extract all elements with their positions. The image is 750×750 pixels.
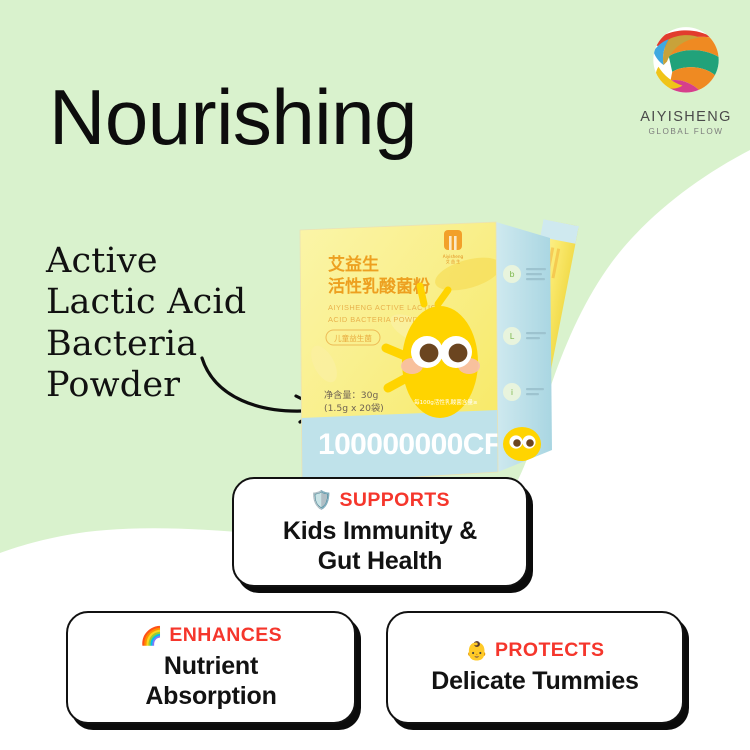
product-image: 艾益生 活性乳酸菌粉 100亿 b bbox=[288, 212, 618, 512]
benefit-body-line-2: Absorption bbox=[145, 681, 276, 711]
box-cfu-value: 100000000CFU bbox=[318, 428, 523, 461]
benefit-card-supports[interactable]: 🛡️ SUPPORTS Kids Immunity & Gut Health bbox=[232, 477, 528, 587]
side-mascot bbox=[503, 427, 541, 461]
box-side-panel: b L i bbox=[496, 222, 552, 472]
svg-text:b: b bbox=[509, 270, 514, 279]
benefit-body: Delicate Tummies bbox=[431, 666, 639, 696]
box-front-panel: Aiyisheng 艾 益 生 艾益生 活性乳酸菌粉 AIYISHENG ACT… bbox=[300, 222, 523, 484]
benefit-card-protects[interactable]: 👶 PROTECTS Delicate Tummies bbox=[386, 611, 684, 724]
benefit-kicker-text: PROTECTS bbox=[495, 639, 604, 662]
rainbow-icon: 🌈 bbox=[140, 627, 162, 645]
benefit-kicker-text: ENHANCES bbox=[169, 624, 282, 647]
box-badge-cn: 儿童益生菌 bbox=[334, 333, 372, 343]
benefit-body-line-1: Nutrient bbox=[145, 651, 276, 681]
svg-text:i: i bbox=[511, 388, 513, 397]
box-title-cn-2: 活性乳酸菌粉 bbox=[328, 276, 430, 297]
box-title-en-1: AIYISHENG ACTIVE LACTIC bbox=[328, 303, 437, 312]
benefit-body-line-1: Kids Immunity & bbox=[283, 516, 477, 546]
benefit-body-line-2: Gut Health bbox=[283, 546, 477, 576]
brand-tagline: GLOBAL FLOW bbox=[632, 127, 740, 136]
svg-text:艾 益 生: 艾 益 生 bbox=[446, 258, 461, 264]
box-side-note: 每100g活性乳酸菌含量≥ bbox=[414, 398, 478, 406]
benefit-kicker: 🛡️ SUPPORTS bbox=[310, 489, 450, 512]
product-promo-poster: AIYISHENG GLOBAL FLOW Nourishing Active … bbox=[0, 0, 750, 750]
benefit-kicker-text: SUPPORTS bbox=[339, 489, 449, 512]
product-box-illustration: 艾益生 活性乳酸菌粉 100亿 b bbox=[288, 212, 618, 512]
benefit-kicker: 👶 PROTECTS bbox=[466, 639, 605, 662]
product-name-line-2: Lactic Acid bbox=[46, 282, 246, 323]
benefit-kicker: 🌈 ENHANCES bbox=[140, 624, 282, 647]
box-title-cn-1: 艾益生 bbox=[328, 254, 379, 275]
brand-logo: AIYISHENG GLOBAL FLOW bbox=[632, 22, 740, 136]
page-title: Nourishing bbox=[49, 79, 417, 155]
benefit-body: Nutrient Absorption bbox=[145, 651, 276, 711]
box-net-weight-1: 净含量：30g bbox=[324, 389, 378, 401]
benefit-body: Kids Immunity & Gut Health bbox=[283, 516, 477, 576]
aiyisheng-swirl-globe-logo bbox=[643, 22, 729, 108]
benefit-card-enhances[interactable]: 🌈 ENHANCES Nutrient Absorption bbox=[66, 611, 356, 724]
brand-name: AIYISHENG bbox=[632, 109, 740, 125]
product-name-line-1: Active bbox=[46, 241, 246, 282]
box-net-weight-2: (1.5g x 20袋) bbox=[324, 402, 384, 414]
baby-icon: 👶 bbox=[466, 642, 488, 660]
svg-text:L: L bbox=[510, 332, 515, 341]
shield-icon: 🛡️ bbox=[310, 491, 332, 509]
box-brand-mark: Aiyisheng 艾 益 生 bbox=[443, 230, 464, 264]
benefit-body-line-1: Delicate Tummies bbox=[431, 666, 639, 696]
